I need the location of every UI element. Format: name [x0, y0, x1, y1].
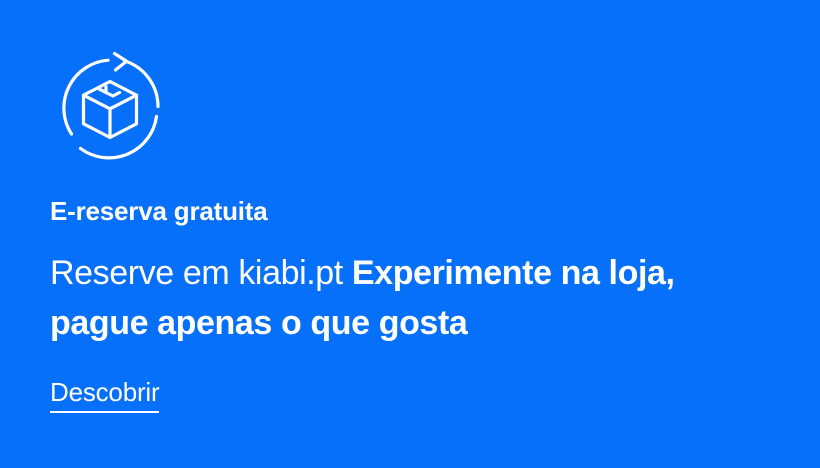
promo-banner: E-reserva gratuita Reserve em kiabi.pt E…	[0, 0, 820, 468]
headline-regular-text: Reserve em kiabi.pt	[50, 254, 352, 292]
discover-link[interactable]: Descobrir	[50, 376, 159, 413]
banner-headline: Reserve em kiabi.pt Experimente na loja,…	[50, 248, 780, 348]
package-return-icon	[50, 48, 170, 168]
banner-eyebrow: E-reserva gratuita	[50, 194, 268, 228]
